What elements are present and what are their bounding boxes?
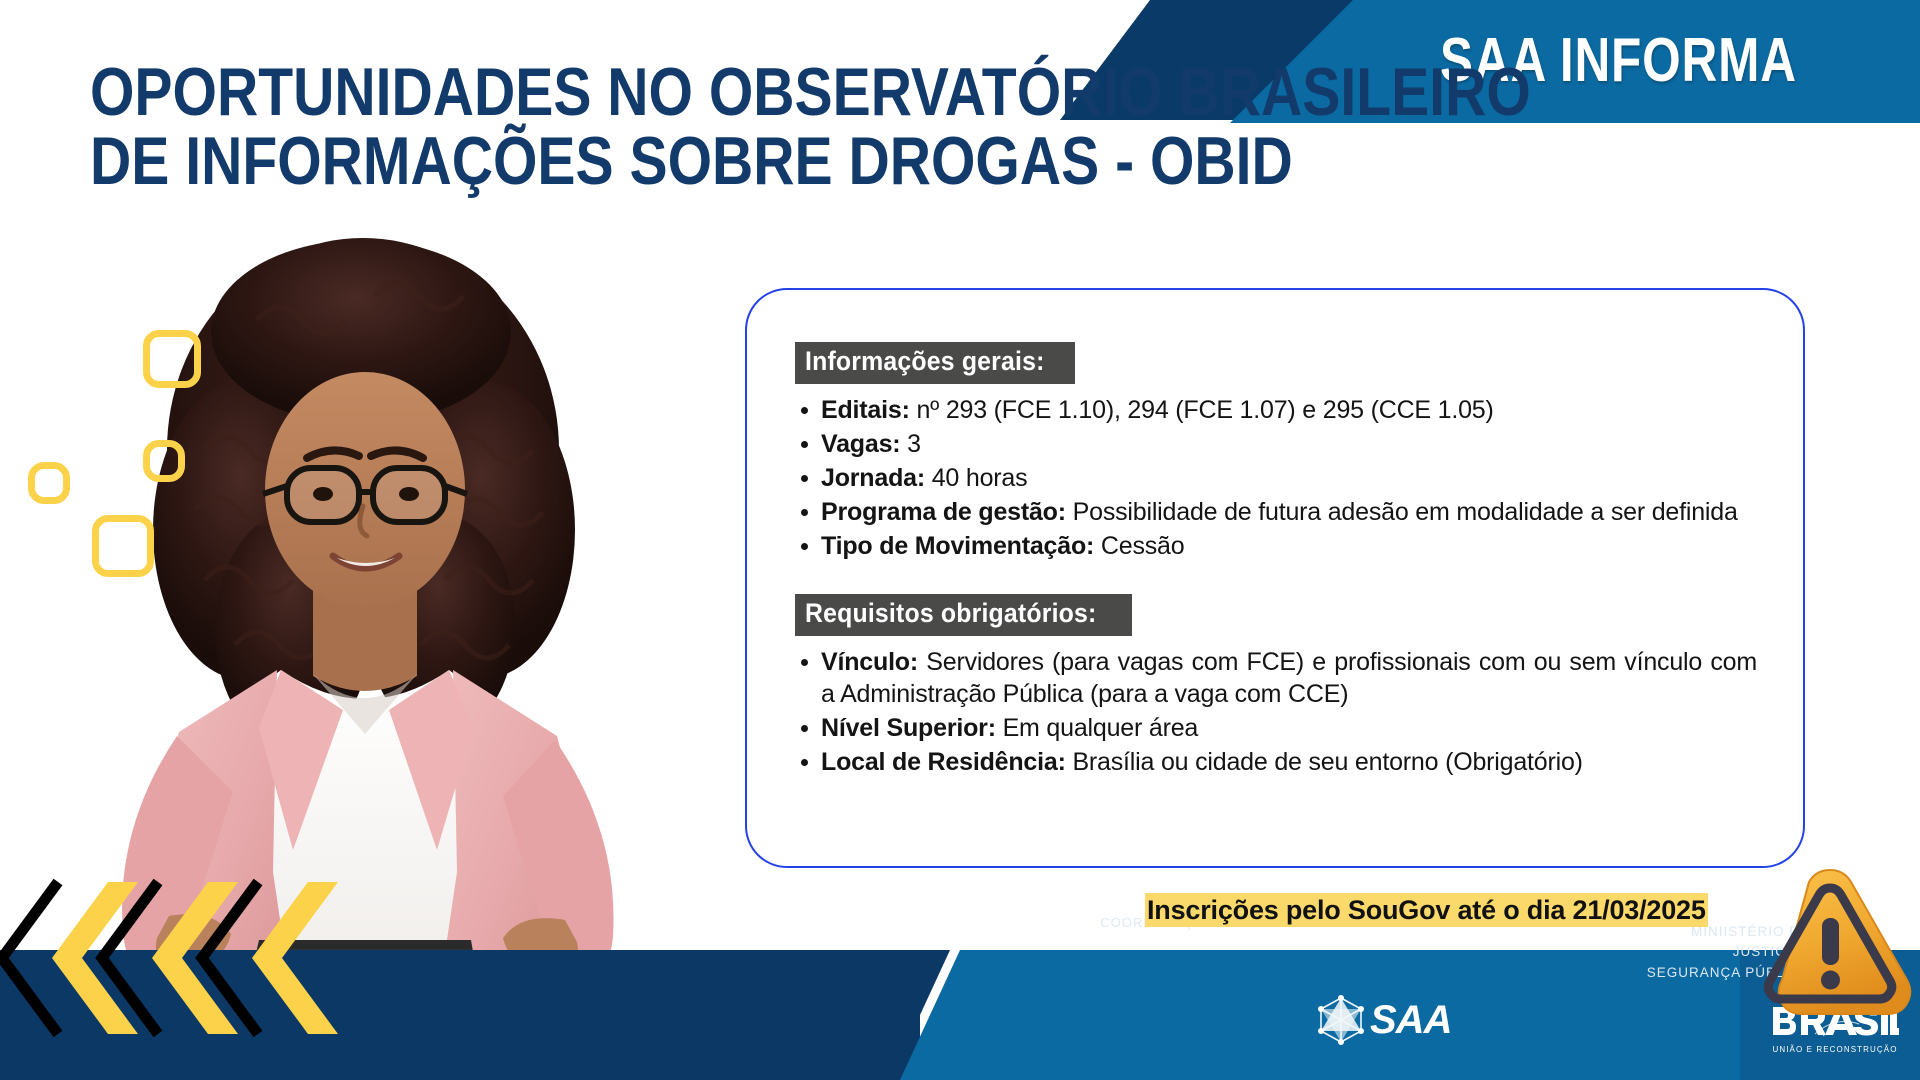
item-label: Nível Superior:	[821, 714, 996, 742]
saa-logo: SAA	[1315, 994, 1451, 1046]
decor-chevrons	[0, 860, 340, 1080]
page-title-line-1: OPORTUNIDADES NO OBSERVATÓRIO BRASILEIRO	[90, 58, 947, 127]
list-item: Local de Residência: Brasília ou cidade …	[795, 746, 1757, 778]
item-value: Em qualquer área	[996, 714, 1198, 742]
page-title-line-2: DE INFORMAÇÕES SOBRE DROGAS - OBID	[90, 127, 947, 196]
section-badge-requisitos-obrigatorios: Requisitos obrigatórios:	[795, 594, 1132, 636]
list-item: Tipo de Movimentação: Cessão	[795, 530, 1757, 562]
deadline-note: Inscrições pelo SouGov até o dia 21/03/2…	[1145, 895, 1708, 926]
footer-cggp: COORDENAÇÃO-GERAL DE GESTÃO DE PESSOAS	[1095, 914, 1295, 1044]
decor-square-4	[92, 515, 154, 577]
saa-wordmark: SAA	[1370, 998, 1451, 1043]
item-label: Local de Residência:	[821, 748, 1066, 776]
section-badge-requisitos-obrigatorios-label: Requisitos obrigatórios:	[805, 598, 1096, 630]
item-label: Programa de gestão:	[821, 498, 1066, 526]
poster-canvas: SAA INFORMA OPORTUNIDADES NO OBSERVATÓRI…	[0, 0, 1920, 1080]
brasil-logo-bottom-label: UNIÃO E RECONSTRUÇÃO	[1770, 1045, 1900, 1054]
section-badge-informacoes-gerais: Informações gerais:	[795, 342, 1075, 384]
list-item: Jornada: 40 horas	[795, 462, 1757, 494]
list-item: Nível Superior: Em qualquer área	[795, 712, 1757, 744]
page-title: OPORTUNIDADES NO OBSERVATÓRIO BRASILEIRO…	[90, 58, 1110, 197]
decor-square-2	[143, 440, 185, 482]
item-value: Cessão	[1094, 532, 1184, 560]
item-value: nº 293 (FCE 1.10), 294 (FCE 1.07) e 295 …	[910, 396, 1494, 424]
item-value: Possibilidade de futura adesão em modali…	[1066, 498, 1738, 526]
footer-cggp-line-2: GESTÃO DE PESSOAS	[1095, 933, 1295, 952]
list-informacoes-gerais: Editais: nº 293 (FCE 1.10), 294 (FCE 1.0…	[795, 394, 1757, 562]
item-value: Brasília ou cidade de seu entorno (Obrig…	[1066, 748, 1583, 776]
warning-triangle-icon	[1745, 862, 1915, 1022]
item-label: Editais:	[821, 396, 910, 424]
info-card: Informações gerais: Editais: nº 293 (FCE…	[745, 288, 1805, 868]
list-item: Vínculo: Servidores (para vagas com FCE)…	[795, 646, 1757, 710]
item-label: Vínculo:	[821, 648, 918, 676]
decor-square-1	[143, 330, 201, 388]
item-value: Servidores (para vagas com FCE) e profis…	[821, 648, 1757, 708]
item-label: Jornada:	[821, 464, 925, 492]
list-requisitos-obrigatorios: Vínculo: Servidores (para vagas com FCE)…	[795, 646, 1757, 778]
list-item: Vagas: 3	[795, 428, 1757, 460]
item-value: 3	[900, 430, 920, 458]
deadline-text: Inscrições pelo SouGov até o dia 21/03/2…	[1145, 893, 1708, 927]
item-value: 40 horas	[925, 464, 1027, 492]
item-label: Tipo de Movimentação:	[821, 532, 1094, 560]
list-item: Programa de gestão: Possibilidade de fut…	[795, 496, 1757, 528]
list-item: Editais: nº 293 (FCE 1.10), 294 (FCE 1.0…	[795, 394, 1757, 426]
item-label: Vagas:	[821, 430, 900, 458]
decor-square-3	[28, 462, 70, 504]
section-badge-informacoes-gerais-label: Informações gerais:	[805, 346, 1045, 378]
saa-network-icon	[1315, 994, 1367, 1046]
